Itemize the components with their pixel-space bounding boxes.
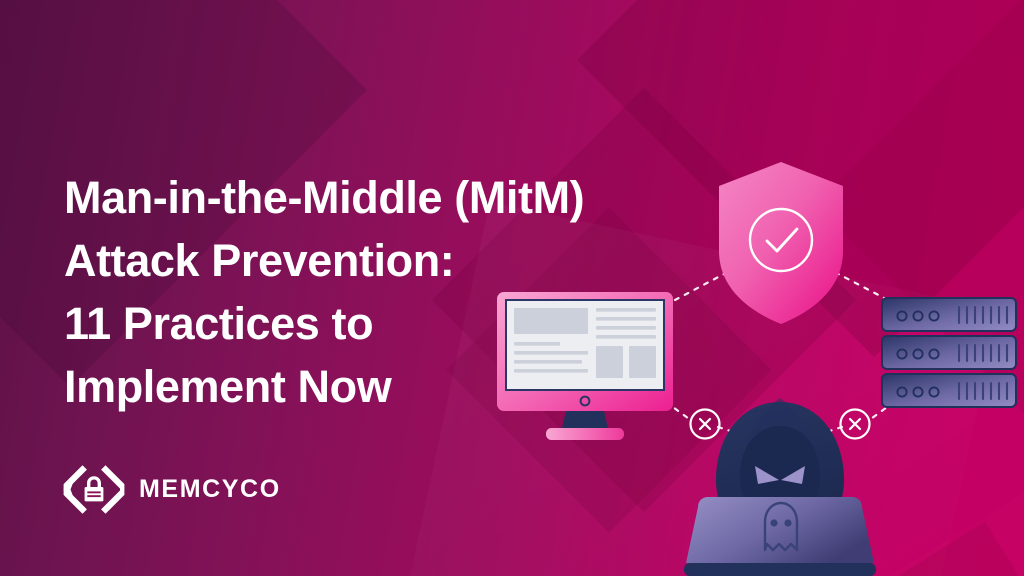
server-unit bbox=[882, 336, 1016, 369]
screen-side-block bbox=[629, 346, 656, 378]
monitor-stand-base bbox=[546, 428, 624, 440]
hooded-hacker-illustration bbox=[684, 398, 876, 576]
lock-in-angle-brackets-icon bbox=[63, 462, 125, 517]
screen-text-line bbox=[514, 369, 588, 373]
server-vents bbox=[959, 345, 1007, 361]
screen-text-line bbox=[514, 342, 560, 346]
blocked-marker-x-right bbox=[841, 410, 870, 439]
server-vents bbox=[959, 307, 1007, 323]
server-rack-illustration bbox=[882, 298, 1016, 407]
server-unit bbox=[882, 374, 1016, 407]
server-unit bbox=[882, 298, 1016, 331]
shield-body bbox=[719, 162, 843, 324]
screen-text-line bbox=[596, 326, 656, 330]
screen-hero-block bbox=[514, 308, 588, 334]
laptop-base-bar bbox=[684, 563, 876, 576]
blocked-marker-x-left bbox=[691, 410, 720, 439]
mitm-attack-diagram bbox=[470, 140, 1024, 576]
server-vents bbox=[959, 383, 1007, 399]
screen-text-line bbox=[596, 317, 656, 321]
screen-text-line bbox=[596, 335, 656, 339]
screen-text-line bbox=[514, 360, 582, 364]
screen-text-line bbox=[514, 351, 588, 355]
laptop-lid bbox=[686, 497, 874, 563]
monitor-stand-neck bbox=[562, 411, 608, 428]
banner-root: Man-in-the-Middle (MitM) Attack Preventi… bbox=[0, 0, 1024, 576]
brand-logo[interactable]: MEMCYCO bbox=[63, 462, 281, 517]
brand-wordmark: MEMCYCO bbox=[139, 475, 281, 504]
screen-text-line bbox=[596, 308, 656, 312]
shield-with-check-illustration bbox=[719, 162, 843, 324]
screen-side-block bbox=[596, 346, 623, 378]
desktop-monitor-illustration bbox=[497, 292, 673, 440]
